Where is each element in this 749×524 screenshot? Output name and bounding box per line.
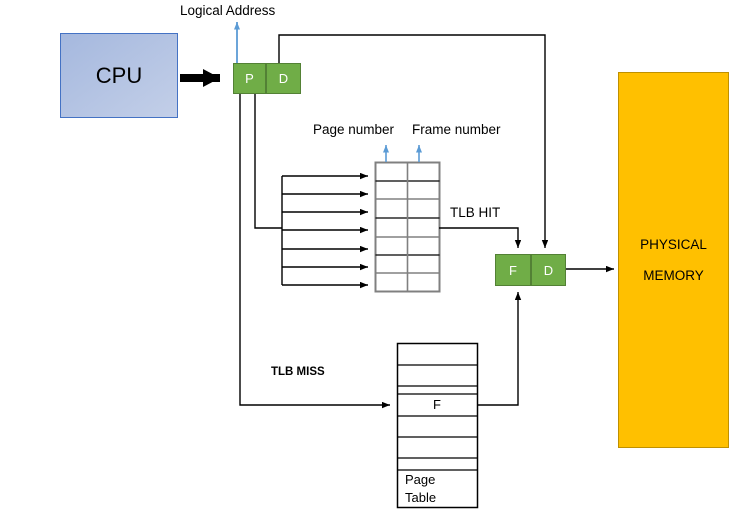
physical-memory-box[interactable]: PHYSICAL MEMORY <box>618 72 729 448</box>
diagram-canvas: CPU Logical Address P D Page number Fram… <box>0 0 749 524</box>
offset-bypass-line <box>279 35 545 248</box>
tlb-hit-label: TLB HIT <box>450 205 500 220</box>
logical-address-label: Logical Address <box>180 3 275 18</box>
tlb-miss-label: TLB MISS <box>271 366 325 378</box>
physical-address-offset-cell[interactable]: D <box>531 254 566 286</box>
virtual-address-offset-cell[interactable]: D <box>266 63 301 94</box>
page-number-to-tlb-bus <box>255 93 282 285</box>
physical-address-frame-label: F <box>509 263 517 278</box>
frame-number-label: Frame number <box>412 122 501 137</box>
virtual-address-page-cell[interactable]: P <box>233 63 266 94</box>
tlb-lookup-arrows <box>282 176 368 285</box>
virtual-address-page-label: P <box>245 71 254 86</box>
cpu-label: CPU <box>96 63 142 89</box>
physical-address-frame-cell[interactable]: F <box>495 254 531 286</box>
page-table-caption: Page Table <box>405 471 436 507</box>
page-table-frame-entry: F <box>433 397 441 412</box>
tlb-table-grid <box>376 163 440 292</box>
cpu-box[interactable]: CPU <box>60 33 178 118</box>
tlb-hit-path <box>439 228 518 248</box>
page-table-caption-line2: Table <box>405 489 436 507</box>
page-number-label: Page number <box>313 122 394 137</box>
physical-memory-line2: MEMORY <box>643 260 704 291</box>
page-table-caption-line1: Page <box>405 471 436 489</box>
tlb-column-label-arrows <box>386 145 419 162</box>
virtual-address-offset-label: D <box>279 71 288 86</box>
physical-memory-line1: PHYSICAL <box>640 229 707 260</box>
page-table-frame-return-path <box>477 292 518 405</box>
physical-address-offset-label: D <box>544 263 553 278</box>
